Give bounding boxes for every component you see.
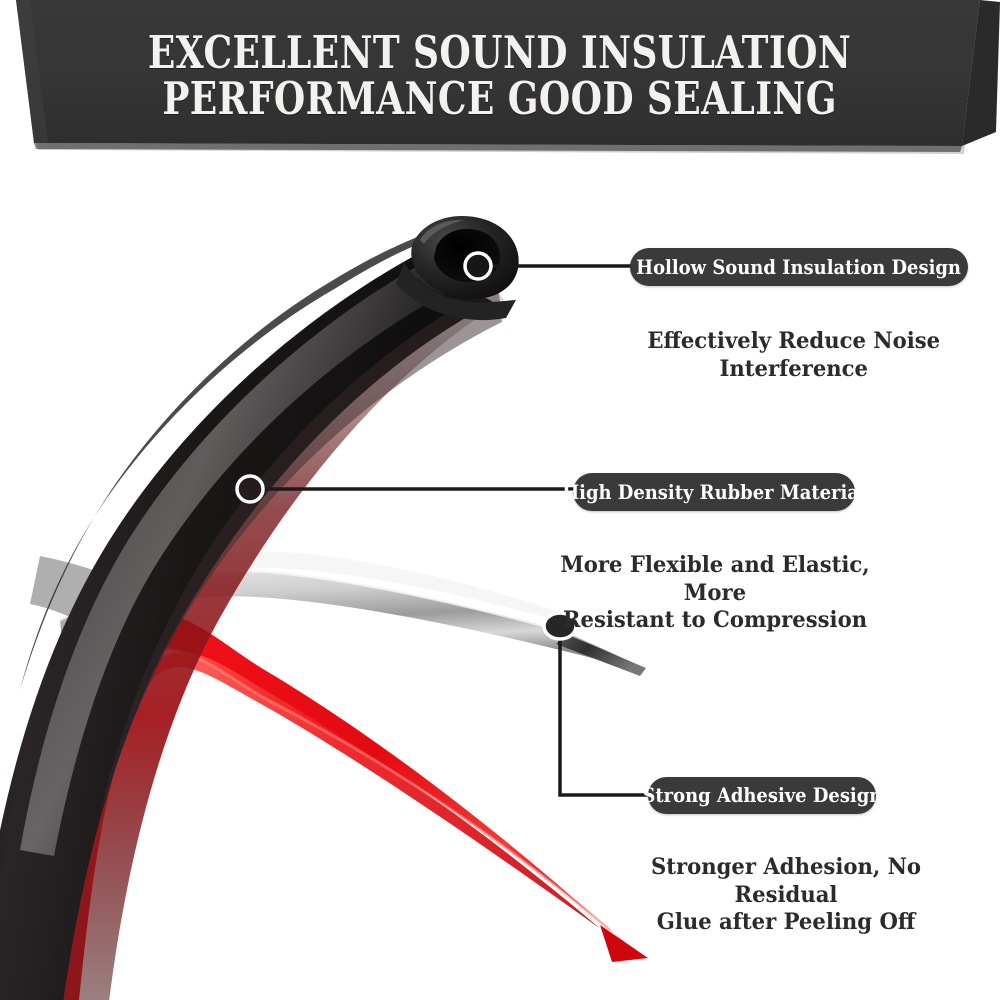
banner-body: [16, 0, 980, 146]
callout-title-pill-2[interactable]: High Density Rubber Material: [573, 473, 855, 511]
callout-caption-2: More Flexible and Elastic, More Resistan…: [520, 525, 910, 635]
callout-caption-1: Effectively Reduce Noise Interference: [600, 301, 988, 383]
callout-title-pill-3[interactable]: Strong Adhesive Design: [648, 777, 876, 814]
marker-high-density-rubber-material[interactable]: [237, 476, 263, 502]
blade-tip-dark: [556, 634, 646, 676]
callout-caption-text-2: More Flexible and Elastic, More Resistan…: [532, 552, 899, 634]
banner-shape: [0, 0, 1000, 170]
callout-title-pill-1[interactable]: Hollow Sound Insulation Design: [630, 248, 968, 286]
callout-title-2: High Density Rubber Material: [562, 481, 866, 504]
callout-caption-3: Stronger Adhesion, No Residual Glue afte…: [590, 827, 982, 937]
callout-caption-text-1: Effectively Reduce Noise Interference: [648, 328, 941, 383]
header-banner: EXCELLENT SOUND INSULATION PERFORMANCE G…: [0, 0, 1000, 170]
callout-title-1: Hollow Sound Insulation Design: [637, 256, 962, 279]
marker-hollow-sound-insulation-design[interactable]: [465, 253, 491, 279]
infographic-canvas: EXCELLENT SOUND INSULATION PERFORMANCE G…: [0, 0, 1000, 1000]
callout-caption-text-3: Stronger Adhesion, No Residual Glue afte…: [602, 854, 970, 936]
callout-title-3: Strong Adhesive Design: [642, 784, 882, 807]
